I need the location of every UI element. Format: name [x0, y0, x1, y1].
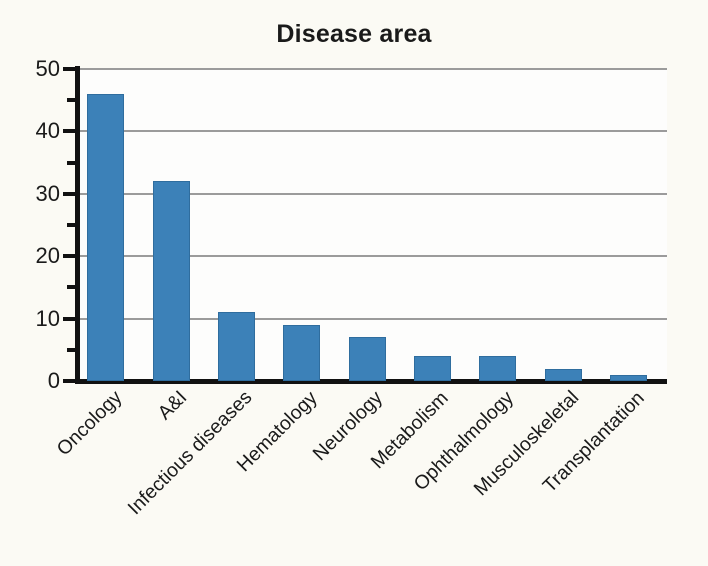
gridline [79, 68, 667, 70]
bar[interactable] [610, 375, 647, 381]
bar[interactable] [349, 337, 386, 381]
y-tick-major [63, 254, 76, 258]
y-tick-major [63, 317, 76, 321]
chart-title: Disease area [0, 22, 708, 47]
x-tick-label: Neurology [310, 388, 387, 465]
x-tick-label: Oncology [54, 388, 126, 460]
y-axis-tick-labels: 01020304050 [0, 0, 60, 566]
y-tick-minor [67, 285, 76, 289]
x-tick-label: Metabolism [368, 388, 452, 472]
gridline [79, 130, 667, 132]
x-tick-label: Musculoskeletal [471, 388, 583, 500]
y-tick-minor [67, 98, 76, 102]
x-tick-label: Hematology [234, 388, 321, 475]
bar[interactable] [87, 94, 124, 381]
x-tick-label: Ophthalmology [411, 388, 518, 495]
y-tick-label: 30 [4, 183, 60, 205]
x-tick-label: Infectious diseases [125, 388, 256, 519]
x-tick-label: A&I [155, 388, 191, 424]
y-tick-minor [67, 223, 76, 227]
bar[interactable] [283, 325, 320, 381]
x-tick-label: Transplantation [540, 388, 648, 496]
y-tick-label: 0 [4, 370, 60, 392]
y-tick-label: 20 [4, 245, 60, 267]
bar[interactable] [414, 356, 451, 381]
y-tick-minor [67, 161, 76, 165]
y-tick-major [63, 192, 76, 196]
bar[interactable] [479, 356, 516, 381]
bar[interactable] [218, 312, 255, 381]
y-tick-minor [67, 348, 76, 352]
bar[interactable] [153, 181, 190, 381]
y-tick-major [63, 379, 76, 383]
y-tick-major [63, 67, 76, 71]
y-tick-label: 50 [4, 58, 60, 80]
y-tick-major [63, 129, 76, 133]
y-tick-label: 10 [4, 308, 60, 330]
bar[interactable] [545, 369, 582, 381]
y-tick-label: 40 [4, 120, 60, 142]
chart-figure: Disease area 01020304050 OncologyA&IInfe… [0, 0, 708, 566]
